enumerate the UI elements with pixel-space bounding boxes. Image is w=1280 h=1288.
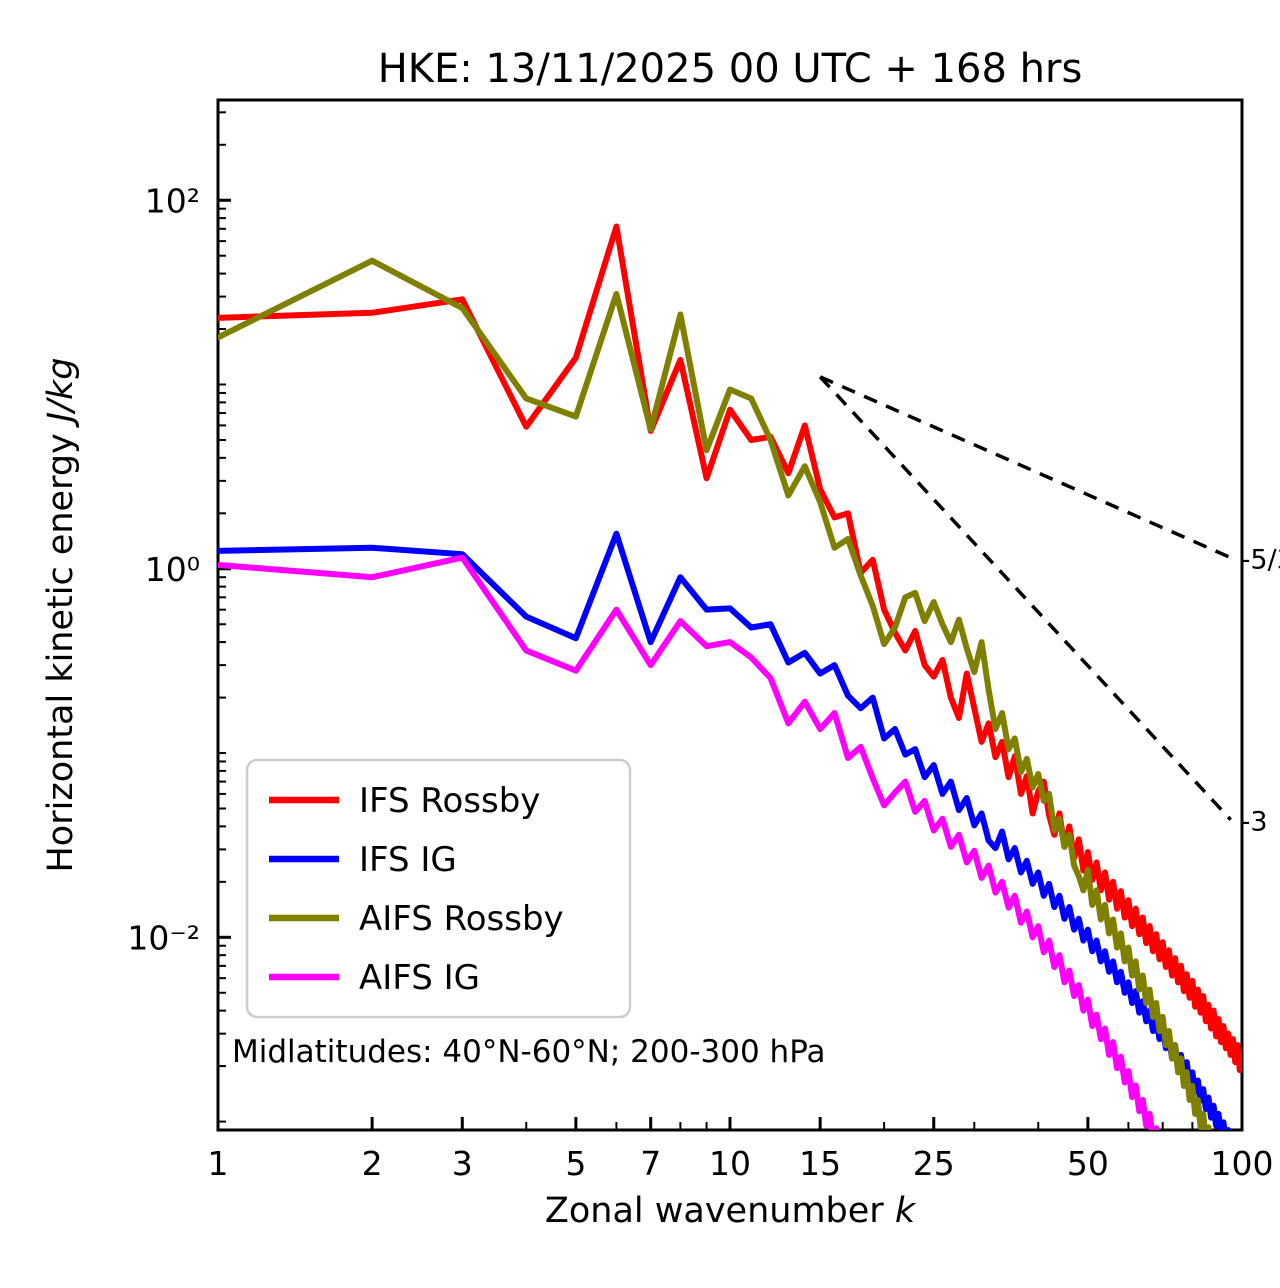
x-tick-label: 10 [709, 1144, 751, 1183]
x-tick-label: 3 [452, 1144, 473, 1183]
region-annotation: Midlatitudes: 40°N-60°N; 200-300 hPa [232, 1034, 826, 1070]
x-tick-label: 5 [565, 1144, 586, 1183]
x-tick-label: 50 [1067, 1144, 1109, 1183]
legend-label-ifs-ig: IFS IG [359, 840, 457, 880]
reference-slope-label: -5/3 [1241, 545, 1280, 576]
x-tick-label: 7 [640, 1144, 661, 1183]
y-tick-label: 10² [145, 181, 200, 220]
legend-label-aifs-rossby: AIFS Rossby [359, 899, 564, 939]
legend-label-aifs-ig: AIFS IG [359, 958, 480, 998]
chart-title: HKE: 13/11/2025 00 UTC + 168 hrs [378, 46, 1083, 92]
y-tick-label: 10⁻² [127, 918, 200, 957]
legend-label-ifs-rossby: IFS Rossby [359, 781, 540, 821]
x-tick-label: 100 [1211, 1144, 1274, 1183]
y-axis-label: Horizontal kinetic energy J/kg [41, 357, 81, 872]
y-tick-label: 10⁰ [145, 550, 200, 589]
reference-slope-label: -3 [1241, 807, 1268, 838]
x-axis-label: Zonal wavenumber k [545, 1191, 917, 1231]
spectrum-chart: HKE: 13/11/2025 00 UTC + 168 hrs12357101… [0, 0, 1280, 1288]
x-tick-label: 2 [362, 1144, 383, 1183]
x-tick-label: 15 [799, 1144, 841, 1183]
figure-container: HKE: 13/11/2025 00 UTC + 168 hrs12357101… [0, 0, 1280, 1288]
x-tick-label: 25 [913, 1144, 955, 1183]
x-tick-label: 1 [208, 1144, 229, 1183]
